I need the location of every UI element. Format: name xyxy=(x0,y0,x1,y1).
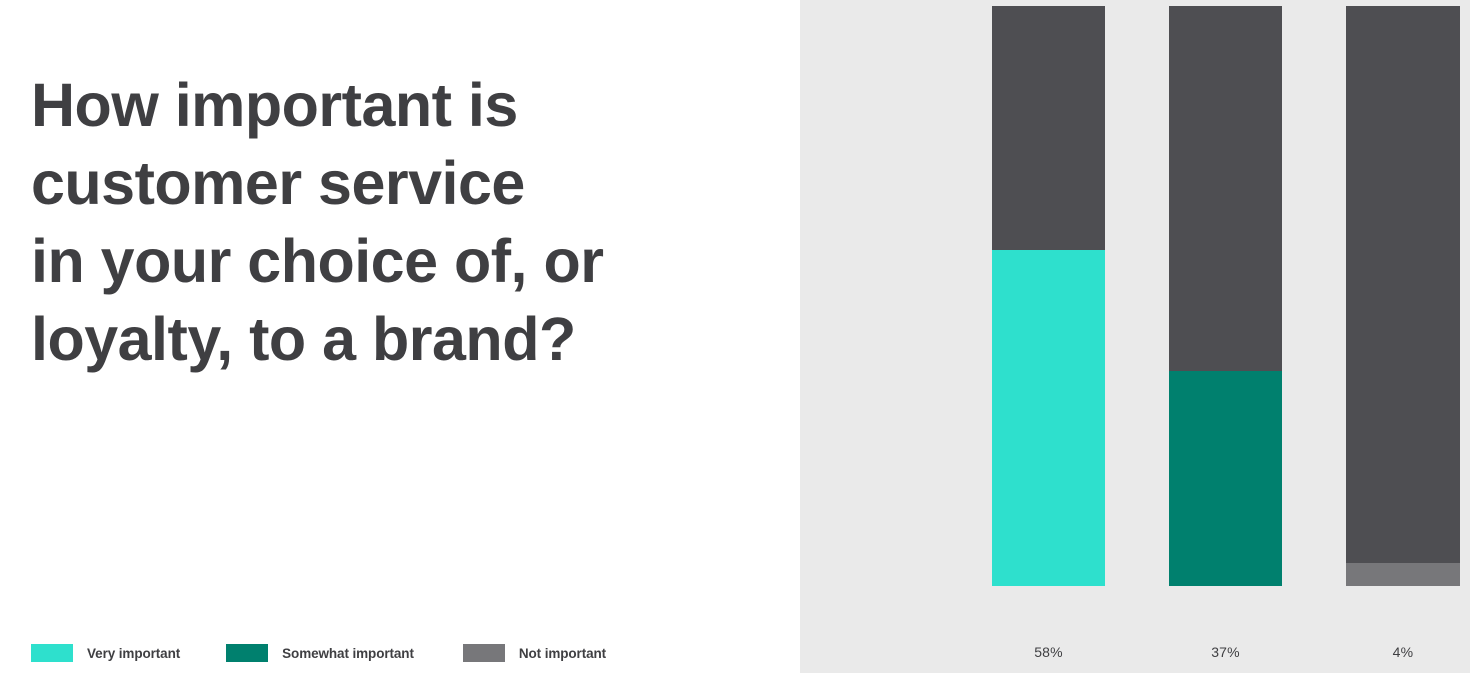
bar-segment-fill-somewhat-important xyxy=(1169,371,1282,586)
bar-segment-fill-not-important xyxy=(1346,563,1460,586)
bar-column-very-important xyxy=(992,6,1105,586)
legend-item-somewhat-important: Somewhat important xyxy=(226,643,414,663)
left-panel: How important is customer service in you… xyxy=(0,0,800,673)
bar-segment-fill-very-important xyxy=(992,250,1105,586)
bar-value-label-not-important: 4% xyxy=(1346,644,1460,660)
legend-swatch-somewhat-important xyxy=(226,644,268,662)
chart-panel: 58% 37% 4% xyxy=(800,0,1470,673)
chart-legend: Very important Somewhat important Not im… xyxy=(31,643,606,663)
bar-segment-remainder-somewhat-important xyxy=(1169,6,1282,371)
legend-label-somewhat-important: Somewhat important xyxy=(282,646,414,661)
legend-item-very-important: Very important xyxy=(31,643,180,663)
bar-column-not-important xyxy=(1346,6,1460,586)
page-title: How important is customer service in you… xyxy=(31,66,751,378)
legend-item-not-important: Not important xyxy=(463,643,606,663)
legend-label-not-important: Not important xyxy=(519,646,606,661)
bar-column-somewhat-important xyxy=(1169,6,1282,586)
legend-label-very-important: Very important xyxy=(87,646,180,661)
plot-area: 58% 37% 4% xyxy=(800,0,1470,673)
bar-segment-remainder-not-important xyxy=(1346,6,1460,563)
bar-value-label-somewhat-important: 37% xyxy=(1169,644,1282,660)
bar-segment-remainder-very-important xyxy=(992,6,1105,250)
bar-value-label-very-important: 58% xyxy=(992,644,1105,660)
legend-swatch-not-important xyxy=(463,644,505,662)
slide-root: How important is customer service in you… xyxy=(0,0,1470,673)
legend-swatch-very-important xyxy=(31,644,73,662)
